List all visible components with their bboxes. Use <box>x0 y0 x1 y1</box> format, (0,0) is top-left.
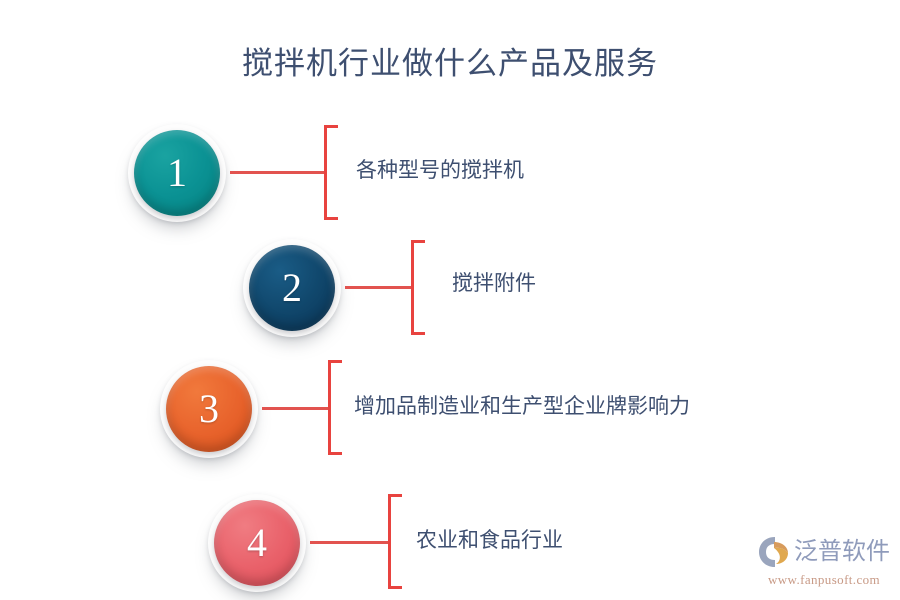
slide-canvas: 搅拌机行业做什么产品及服务 1 各种型号的搅拌机 2 搅拌附件 3 增 <box>0 0 900 600</box>
watermark-brand-row: 泛普软件 <box>758 534 890 570</box>
number-badge-disc-4: 4 <box>214 500 300 586</box>
number-badge-label-1: 1 <box>167 153 187 193</box>
bracket-3 <box>328 360 342 455</box>
number-badge-disc-2: 2 <box>249 245 335 331</box>
item-label-2: 搅拌附件 <box>452 273 536 294</box>
fanpusoft-logo-icon <box>758 536 792 568</box>
bracket-2 <box>411 240 425 335</box>
item-label-4: 农业和食品行业 <box>416 530 563 551</box>
number-badge-2[interactable]: 2 <box>243 239 341 337</box>
watermark-url: www.fanpusoft.com <box>758 572 890 588</box>
number-badge-4[interactable]: 4 <box>208 494 306 592</box>
connector-line-3 <box>262 407 330 410</box>
connector-line-1 <box>230 171 326 174</box>
number-badge-3[interactable]: 3 <box>160 360 258 458</box>
connector-line-2 <box>345 286 413 289</box>
connector-line-4 <box>310 541 390 544</box>
number-badge-disc-1: 1 <box>134 130 220 216</box>
number-badge-1[interactable]: 1 <box>128 124 226 222</box>
item-label-3: 增加品制造业和生产型企业牌影响力 <box>354 396 690 417</box>
fanpusoft-watermark: 泛普软件 www.fanpusoft.com <box>758 534 890 592</box>
number-badge-label-4: 4 <box>247 523 267 563</box>
number-badge-label-2: 2 <box>282 268 302 308</box>
watermark-brand: 泛普软件 <box>794 540 890 564</box>
bracket-1 <box>324 125 338 220</box>
item-label-1: 各种型号的搅拌机 <box>356 160 524 181</box>
number-badge-disc-3: 3 <box>166 366 252 452</box>
number-badge-label-3: 3 <box>199 389 219 429</box>
bracket-4 <box>388 494 402 589</box>
page-title: 搅拌机行业做什么产品及服务 <box>0 38 900 83</box>
